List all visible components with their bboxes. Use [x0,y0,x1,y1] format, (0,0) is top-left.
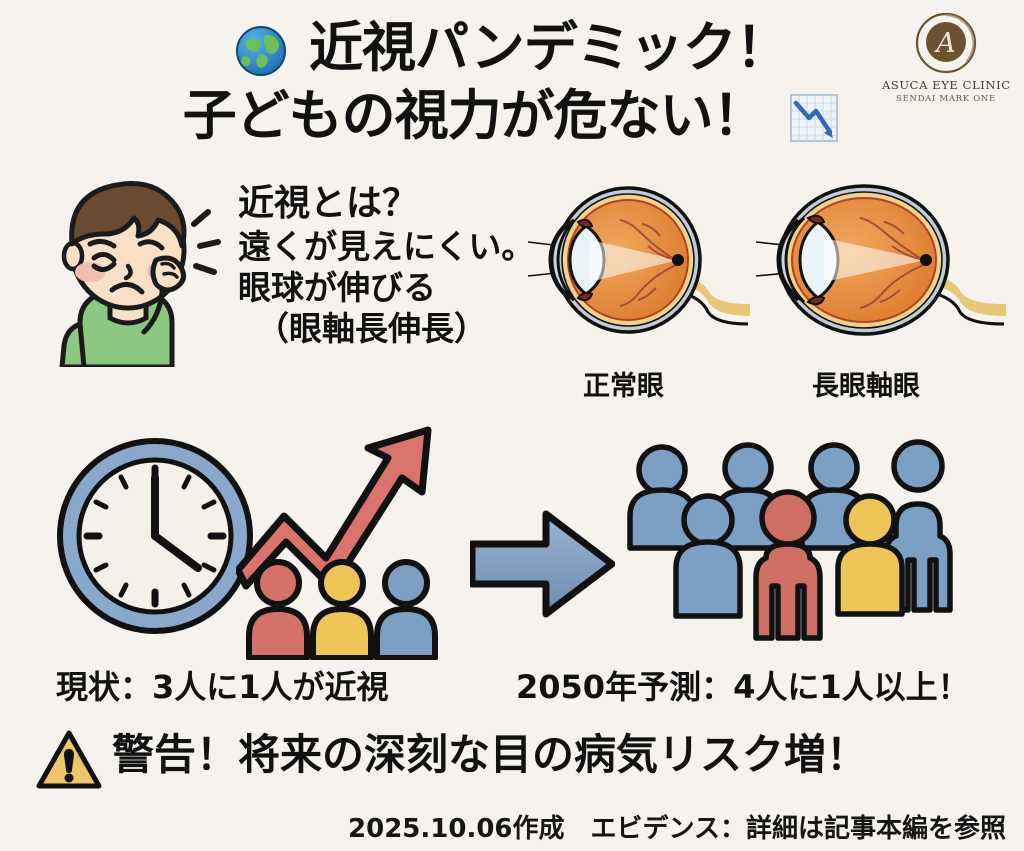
definition-body-1: 遠くが見えにくい。 [238,226,538,267]
stat-now-prefix: 現状： [56,668,152,706]
svg-text:A: A [933,28,956,59]
crowd-people-icon [622,438,957,658]
title-line-1: 近視パンデミック！ [0,16,1024,79]
normal-eye-caption: 正常眼 [583,364,664,403]
normal-eye-diagram [528,164,760,364]
definition-text-block: 近視とは？ 遠くが見えにくい。 眼球が伸びる （眼軸長伸長） [238,182,538,349]
three-people-icon [245,555,440,660]
child-rubbing-eye-icon [28,172,228,367]
footer-text: 2025.10.06作成 エビデンス：詳細は記事本編を参照 [348,808,1006,845]
header: 近視パンデミック！ 子どもの視力が危ない！ [0,0,1024,160]
globe-icon [235,25,287,77]
long-axial-eye-caption: 長眼軸眼 [812,364,920,403]
statistics-section: 現状：3人に1人が近視 2050年予測：4人に1人以上！ [0,410,1024,720]
right-arrow-icon [470,508,615,620]
logo-sub: SENDAI MARK ONE [882,94,1010,104]
stat-caption-now: 現状：3人に1人が近視 [56,662,389,708]
title-text-1: 近視パンデミック！ [309,19,789,77]
chart-decreasing-icon [787,92,841,146]
warning-triangle-icon [36,730,102,790]
action-lines-icon [194,212,218,272]
definition-section: 近視とは？ 遠くが見えにくい。 眼球が伸びる （眼軸長伸長） [0,168,1024,400]
logo-mark-icon: A [915,12,977,74]
warning-row: 警告！将来の深刻な目の病気リスク増！ [0,726,1024,798]
definition-body-2: 眼球が伸びる [238,267,538,308]
definition-body-3: （眼軸長伸長） [238,308,538,349]
stat-now-highlight: 3人に1人が近視 [152,662,389,708]
clock-icon [52,436,262,641]
stat-caption-future: 2050年予測：4人に1人以上！ [516,662,970,708]
title-text-2: 子どもの視力が危ない！ [183,87,766,145]
stat-future-highlight: 4人に1人以上！ [733,662,970,708]
stat-future-prefix: 2050年予測： [516,668,733,706]
definition-heading: 近視とは？ [238,182,418,226]
warning-text: 警告！将来の深刻な目の病気リスク増！ [112,724,868,786]
long-axial-eye-diagram [756,164,1008,364]
warning-text-highlight: 将来の深刻な目の病気リスク増！ [238,724,868,786]
warning-text-plain: 警告！ [112,730,238,779]
footer: 2025.10.06作成 エビデンス：詳細は記事本編を参照 [0,806,1024,851]
logo-name: ASUCA EYE CLINIC [882,78,1010,92]
clinic-logo: A ASUCA EYE CLINIC SENDAI MARK ONE [882,12,1010,104]
infographic-poster: 近視パンデミック！ 子どもの視力が危ない！ [0,0,1024,851]
title-line-2: 子どもの視力が危ない！ [0,84,1024,147]
